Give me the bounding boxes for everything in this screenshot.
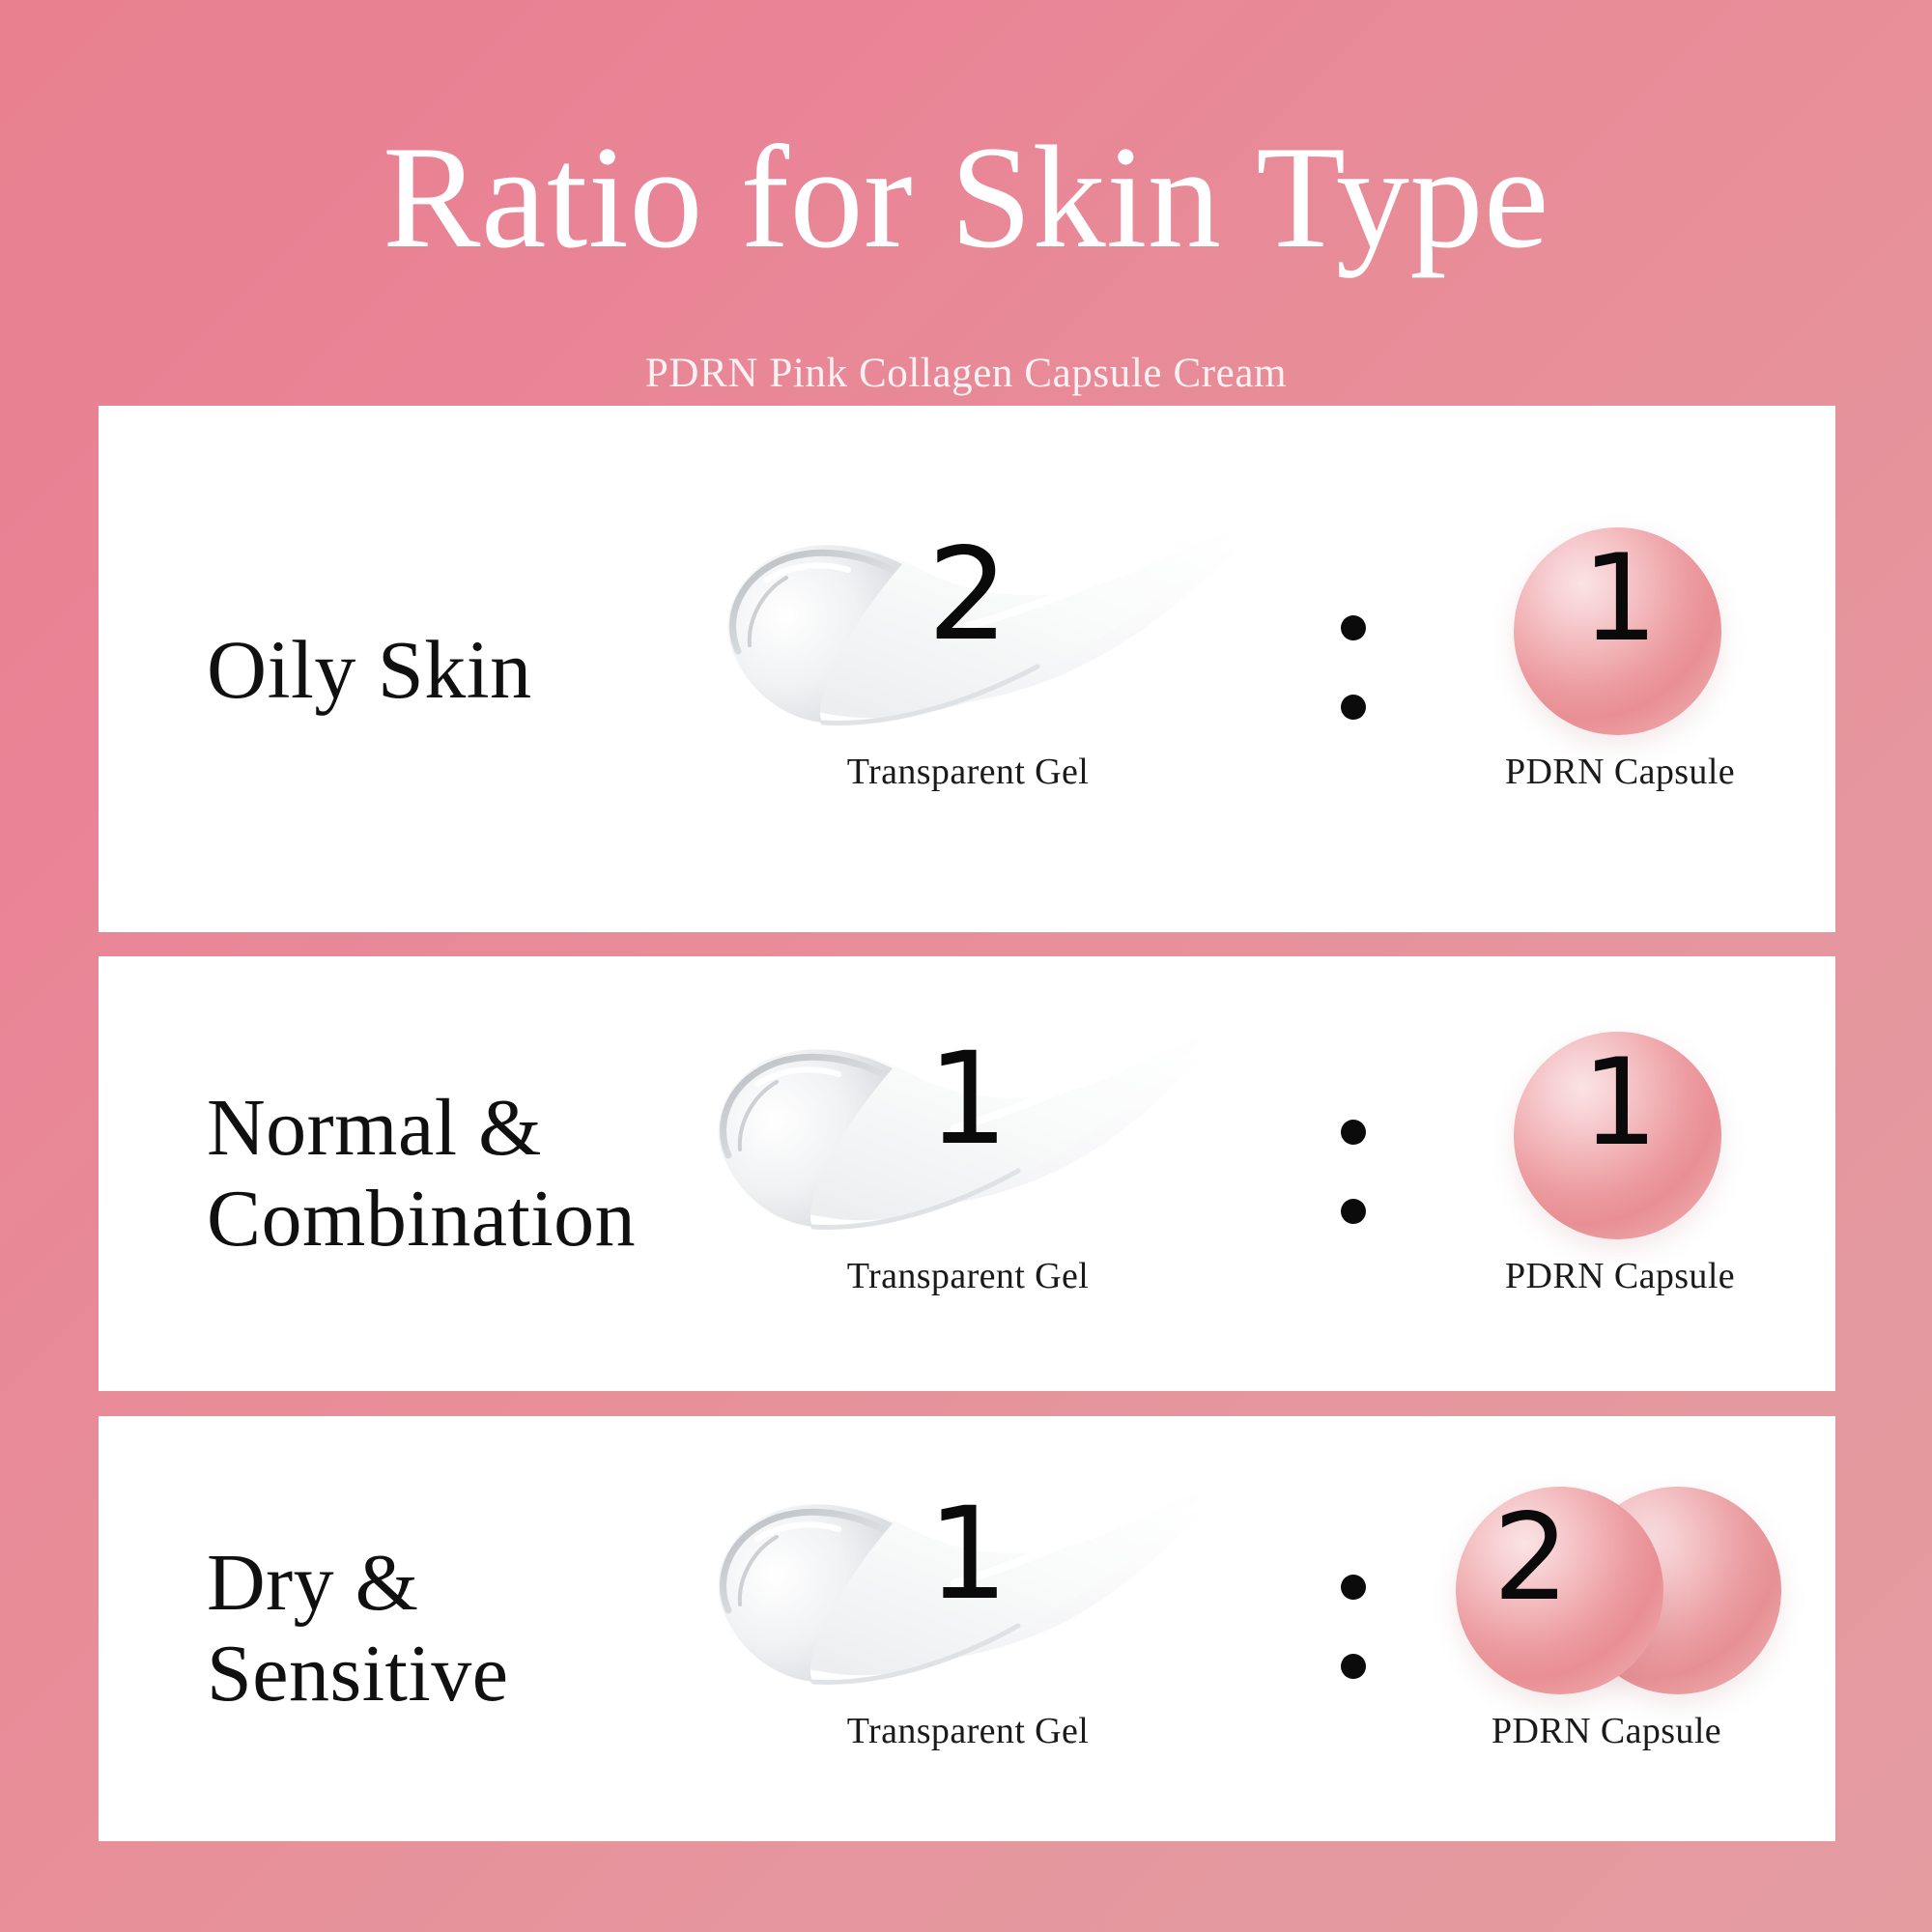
capsule-ratio-group: 1 PDRN Capsule <box>1427 510 1813 829</box>
capsule-amount: 2 <box>1338 1498 1724 1618</box>
ratio-card-normal-combination: Normal & Combination <box>99 956 1835 1391</box>
gel-ratio-group: 2 Transparent Gel <box>678 510 1258 829</box>
gel-amount: 1 <box>678 1491 1258 1618</box>
infographic-canvas: Ratio for Skin Type PDRN Pink Collagen C… <box>0 0 1932 1932</box>
capsule-caption: PDRN Capsule <box>1427 753 1813 790</box>
capsule-amount: 1 <box>1427 1043 1813 1163</box>
page-subtitle: PDRN Pink Collagen Capsule Cream <box>0 353 1932 394</box>
skin-type-label: Dry & Sensitive <box>207 1538 509 1719</box>
ratio-card-dry-sensitive: Dry & Sensitive <box>99 1416 1835 1841</box>
capsule-ratio-group: 1 PDRN Capsule <box>1427 1014 1813 1333</box>
capsule-caption: PDRN Capsule <box>1427 1258 1813 1294</box>
ratio-card-oily-skin: Oily Skin <box>99 406 1835 932</box>
skin-type-label: Oily Skin <box>207 622 532 715</box>
page-title: Ratio for Skin Type <box>0 124 1932 270</box>
gel-caption: Transparent Gel <box>678 753 1258 790</box>
ratio-separator-icon <box>1327 602 1385 737</box>
gel-ratio-group: 1 Transparent Gel <box>678 1014 1258 1333</box>
gel-amount: 2 <box>678 531 1258 659</box>
capsule-amount: 1 <box>1427 539 1813 659</box>
gel-amount: 1 <box>678 1036 1258 1163</box>
gel-caption: Transparent Gel <box>678 1258 1258 1294</box>
ratio-separator-icon <box>1327 1106 1385 1241</box>
capsule-caption: PDRN Capsule <box>1413 1713 1800 1749</box>
gel-caption: Transparent Gel <box>678 1713 1258 1749</box>
capsule-ratio-group: 2 PDRN Capsule <box>1398 1469 1784 1788</box>
skin-type-label: Normal & Combination <box>207 1083 636 1264</box>
gel-ratio-group: 1 Transparent Gel <box>678 1469 1258 1788</box>
header: Ratio for Skin Type PDRN Pink Collagen C… <box>0 0 1932 406</box>
